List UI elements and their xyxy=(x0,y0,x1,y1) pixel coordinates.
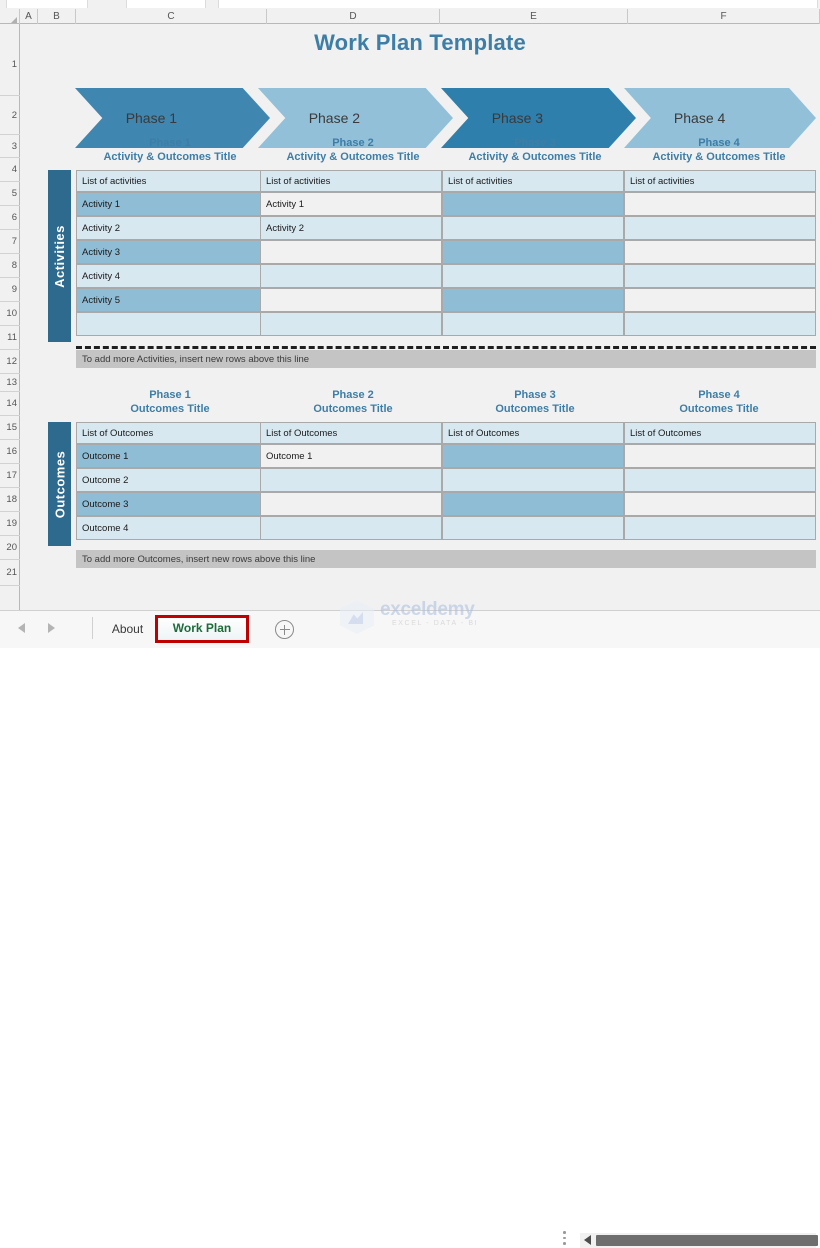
outcome-header-col4[interactable]: List of Outcomes xyxy=(624,422,816,444)
outcome-cell-c3-r4[interactable] xyxy=(442,516,624,540)
exceldemy-watermark: exceldemy EXCEL - DATA - BI xyxy=(338,598,498,638)
activity-cell-c2-r1[interactable]: Activity 1 xyxy=(260,192,442,216)
outcomes-caption-3: Phase 3 Outcomes Title xyxy=(442,388,628,416)
activity-cell-c1-r6[interactable] xyxy=(76,312,264,336)
activity-cell-c2-r6[interactable] xyxy=(260,312,442,336)
column-header-C[interactable]: C xyxy=(76,9,267,24)
row-header-14[interactable]: 14 xyxy=(0,392,20,416)
outcome-header-col2[interactable]: List of Outcomes xyxy=(260,422,442,444)
outcome-cell-c1-r2[interactable]: Outcome 2 xyxy=(76,468,264,492)
activity-cell-c4-r4[interactable] xyxy=(624,264,816,288)
worksheet-canvas: Work Plan Template Phase 1 Phase 2 Phase… xyxy=(20,24,820,610)
activity-cell-c1-r3[interactable]: Activity 3 xyxy=(76,240,264,264)
activities-side-label: Activities xyxy=(48,170,71,342)
activity-cell-c3-r6[interactable] xyxy=(442,312,624,336)
activities-caption-1-line1: Phase 1 xyxy=(76,136,264,150)
row-header-2[interactable]: 2 xyxy=(0,96,20,135)
sheet-tab-about[interactable]: About xyxy=(100,616,155,642)
active-tab-highlight-box xyxy=(155,615,249,643)
nav-prev-icon[interactable] xyxy=(18,623,25,633)
outcomes-caption-1-line1: Phase 1 xyxy=(76,388,264,402)
activity-cell-c4-r1[interactable] xyxy=(624,192,816,216)
activities-caption-1: Phase 1 Activity & Outcomes Title xyxy=(76,136,264,164)
row-header-gutter: 123456789101112131415161718192021 xyxy=(0,24,20,610)
horizontal-scrollbar-thumb[interactable] xyxy=(596,1235,818,1246)
watermark-hexagon-icon xyxy=(340,600,374,634)
outcome-cell-c4-r2[interactable] xyxy=(624,468,816,492)
activities-side-label-text: Activities xyxy=(52,225,67,288)
outcome-cell-c2-r2[interactable] xyxy=(260,468,442,492)
phase-chevron-label-2: Phase 2 xyxy=(309,110,360,126)
ribbon-tab-fragment-1[interactable] xyxy=(6,0,88,8)
activity-cell-c3-r5[interactable] xyxy=(442,288,624,312)
outcome-cell-c1-r4[interactable]: Outcome 4 xyxy=(76,516,264,540)
activities-note-strip: To add more Activities, insert new rows … xyxy=(76,350,816,368)
row-header-8[interactable]: 8 xyxy=(0,254,20,278)
activities-caption-3-line2: Activity & Outcomes Title xyxy=(442,150,628,164)
outcome-cell-c2-r4[interactable] xyxy=(260,516,442,540)
outcomes-side-label: Outcomes xyxy=(48,422,71,546)
watermark-chart-glyph-icon xyxy=(348,611,363,624)
activity-cell-c1-r1[interactable]: Activity 1 xyxy=(76,192,264,216)
activities-caption-1-line2: Activity & Outcomes Title xyxy=(76,150,264,164)
activity-cell-c1-r5[interactable]: Activity 5 xyxy=(76,288,264,312)
row-header-9[interactable]: 9 xyxy=(0,278,20,302)
column-header-D[interactable]: D xyxy=(267,9,440,24)
activities-caption-3-line1: Phase 3 xyxy=(442,136,628,150)
column-header-E[interactable]: E xyxy=(440,9,628,24)
nav-next-icon[interactable] xyxy=(48,623,55,633)
row-header-3[interactable]: 3 xyxy=(0,135,20,158)
outcomes-caption-1-line2: Outcomes Title xyxy=(76,402,264,416)
outcomes-side-label-text: Outcomes xyxy=(52,450,67,518)
row-header-11[interactable]: 11 xyxy=(0,326,20,350)
activity-cell-c4-r3[interactable] xyxy=(624,240,816,264)
outcomes-caption-3-line2: Outcomes Title xyxy=(442,402,628,416)
row-header-16[interactable]: 16 xyxy=(0,440,20,464)
row-header-6[interactable]: 6 xyxy=(0,206,20,230)
select-all-corner[interactable] xyxy=(0,9,20,24)
phase-chevron-label-4: Phase 4 xyxy=(674,110,725,126)
row-header-19[interactable]: 19 xyxy=(0,512,20,536)
row-header-1[interactable]: 1 xyxy=(0,33,20,96)
outcome-header-col3[interactable]: List of Outcomes xyxy=(442,422,624,444)
activities-insert-dash-line xyxy=(76,346,816,349)
activity-cell-c3-r1[interactable] xyxy=(442,192,624,216)
activity-cell-c2-r5[interactable] xyxy=(260,288,442,312)
row-header-18[interactable]: 18 xyxy=(0,488,20,512)
activities-caption-2: Phase 2 Activity & Outcomes Title xyxy=(260,136,446,164)
activities-caption-2-line1: Phase 2 xyxy=(260,136,446,150)
select-all-triangle-icon xyxy=(11,17,17,23)
outcome-cell-c4-r4[interactable] xyxy=(624,516,816,540)
row-header-21[interactable]: 21 xyxy=(0,560,20,586)
column-header-F[interactable]: F xyxy=(628,9,820,24)
activity-cell-c4-r5[interactable] xyxy=(624,288,816,312)
row-header-15[interactable]: 15 xyxy=(0,416,20,440)
activity-header-col2[interactable]: List of activities xyxy=(260,170,442,192)
scroll-left-icon[interactable] xyxy=(584,1235,591,1245)
activity-cell-c1-r2[interactable]: Activity 2 xyxy=(76,216,264,240)
phase-chevron-label-3: Phase 3 xyxy=(492,110,543,126)
outcome-cell-c1-r1[interactable]: Outcome 1 xyxy=(76,444,264,468)
add-sheet-button[interactable] xyxy=(275,620,294,639)
activity-cell-c4-r6[interactable] xyxy=(624,312,816,336)
outcome-cell-c4-r3[interactable] xyxy=(624,492,816,516)
row-header-10[interactable]: 10 xyxy=(0,302,20,326)
ribbon-tab-fragment-2[interactable] xyxy=(126,0,206,8)
outcomes-caption-4: Phase 4 Outcomes Title xyxy=(624,388,814,416)
row-header-5[interactable]: 5 xyxy=(0,182,20,206)
outcome-cell-c2-r1[interactable]: Outcome 1 xyxy=(260,444,442,468)
outcome-cell-c3-r2[interactable] xyxy=(442,468,624,492)
tab-resize-grip[interactable] xyxy=(563,1231,566,1248)
activities-caption-2-line2: Activity & Outcomes Title xyxy=(260,150,446,164)
outcomes-caption-2: Phase 2 Outcomes Title xyxy=(260,388,446,416)
activities-caption-3: Phase 3 Activity & Outcomes Title xyxy=(442,136,628,164)
row-header-13[interactable]: 13 xyxy=(0,374,20,392)
outcomes-note-strip: To add more Outcomes, insert new rows ab… xyxy=(76,550,816,568)
activity-header-col1[interactable]: List of activities xyxy=(76,170,264,192)
activity-cell-c2-r3[interactable] xyxy=(260,240,442,264)
watermark-name: exceldemy xyxy=(380,599,474,621)
outcomes-caption-4-line1: Phase 4 xyxy=(624,388,814,402)
activities-caption-4-line2: Activity & Outcomes Title xyxy=(624,150,814,164)
activity-cell-c3-r2[interactable] xyxy=(442,216,624,240)
activity-cell-c4-r2[interactable] xyxy=(624,216,816,240)
ribbon-tab-strip xyxy=(0,0,820,9)
outcomes-caption-1: Phase 1 Outcomes Title xyxy=(76,388,264,416)
column-header-A[interactable]: A xyxy=(20,9,38,24)
tab-separator xyxy=(92,617,93,639)
outcome-cell-c1-r3[interactable]: Outcome 3 xyxy=(76,492,264,516)
activities-caption-4-line1: Phase 4 xyxy=(624,136,814,150)
outcome-cell-c3-r1[interactable] xyxy=(442,444,624,468)
activity-cell-c1-r4[interactable]: Activity 4 xyxy=(76,264,264,288)
outcome-cell-c4-r1[interactable] xyxy=(624,444,816,468)
phase-chevron-label-1: Phase 1 xyxy=(126,110,177,126)
outcome-cell-c2-r3[interactable] xyxy=(260,492,442,516)
outcome-cell-c3-r3[interactable] xyxy=(442,492,624,516)
ribbon-tab-fragment-3[interactable] xyxy=(218,0,818,8)
outcomes-caption-4-line2: Outcomes Title xyxy=(624,402,814,416)
row-header-12[interactable]: 12 xyxy=(0,350,20,374)
page-title: Work Plan Template xyxy=(20,30,820,56)
activity-cell-c3-r3[interactable] xyxy=(442,240,624,264)
outcomes-caption-2-line1: Phase 2 xyxy=(260,388,446,402)
activity-cell-c2-r4[interactable] xyxy=(260,264,442,288)
outcome-header-col1[interactable]: List of Outcomes xyxy=(76,422,264,444)
activity-header-col3[interactable]: List of activities xyxy=(442,170,624,192)
row-header-7[interactable]: 7 xyxy=(0,230,20,254)
activity-cell-c3-r4[interactable] xyxy=(442,264,624,288)
row-header-17[interactable]: 17 xyxy=(0,464,20,488)
activity-header-col4[interactable]: List of activities xyxy=(624,170,816,192)
watermark-tagline: EXCEL - DATA - BI xyxy=(392,620,478,627)
column-header-B[interactable]: B xyxy=(38,9,76,24)
outcomes-caption-2-line2: Outcomes Title xyxy=(260,402,446,416)
outcomes-caption-3-line1: Phase 3 xyxy=(442,388,628,402)
activity-cell-c2-r2[interactable]: Activity 2 xyxy=(260,216,442,240)
row-header-4[interactable]: 4 xyxy=(0,158,20,182)
column-header-bar: ABCDEF xyxy=(0,9,820,24)
activities-caption-4: Phase 4 Activity & Outcomes Title xyxy=(624,136,814,164)
row-header-20[interactable]: 20 xyxy=(0,536,20,560)
